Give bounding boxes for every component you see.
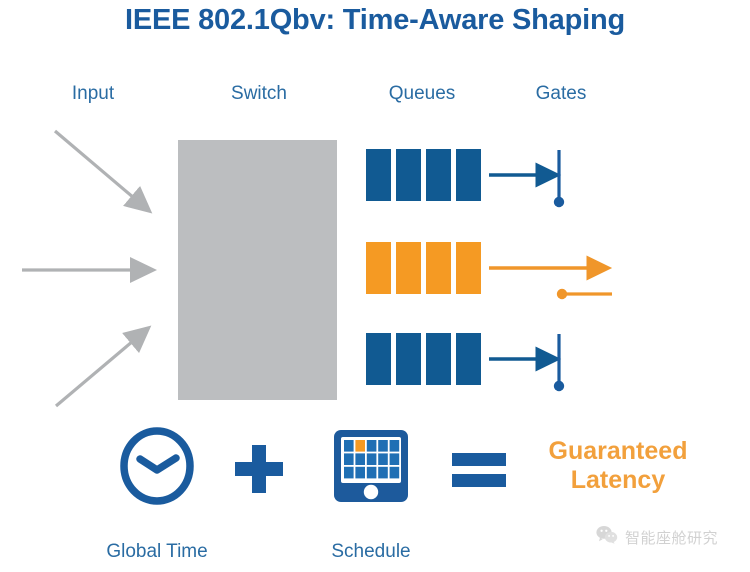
clock-icon: [118, 427, 196, 505]
packet: [456, 242, 481, 294]
packet: [396, 242, 421, 294]
plus-sign-icon: [233, 443, 285, 495]
page-title: IEEE 802.1Qbv: Time-Aware Shaping: [0, 4, 750, 37]
result-line-2: Latency: [512, 466, 724, 495]
queue-1-gate-closed: [554, 150, 564, 207]
queue-3-gate-closed: [554, 334, 564, 391]
input-arrow-bottom: [56, 341, 133, 406]
equals-sign-icon: [452, 452, 506, 488]
diagram-canvas: IEEE 802.1Qbv: Time-Aware Shaping Input …: [0, 0, 750, 572]
queue-2-packets: [366, 242, 481, 294]
packet: [396, 333, 421, 385]
schedule-calendar-icon: [333, 429, 409, 503]
watermark-text: 智能座舱研究: [625, 527, 718, 548]
packet: [456, 333, 481, 385]
watermark: 智能座舱研究: [596, 525, 718, 549]
packet: [366, 333, 391, 385]
queue-1-packets: [366, 149, 481, 201]
packet: [366, 149, 391, 201]
packet: [426, 149, 451, 201]
result-line-1: Guaranteed: [512, 437, 724, 466]
column-label-gates: Gates: [501, 83, 621, 105]
column-label-queues: Queues: [362, 83, 482, 105]
switch-block: [178, 140, 337, 400]
packet: [366, 242, 391, 294]
packet: [396, 149, 421, 201]
packet: [456, 149, 481, 201]
column-label-switch: Switch: [199, 83, 319, 105]
column-label-input: Input: [33, 83, 153, 105]
bottom-label-global-time: Global Time: [97, 541, 217, 563]
input-arrow-top: [55, 131, 134, 198]
packet: [426, 242, 451, 294]
queue-2-gate-open: [557, 289, 612, 299]
bottom-label-schedule: Schedule: [311, 541, 431, 563]
packet: [426, 333, 451, 385]
queue-3-packets: [366, 333, 481, 385]
wechat-logo-icon: [596, 525, 618, 549]
result-text: Guaranteed Latency: [512, 437, 724, 495]
